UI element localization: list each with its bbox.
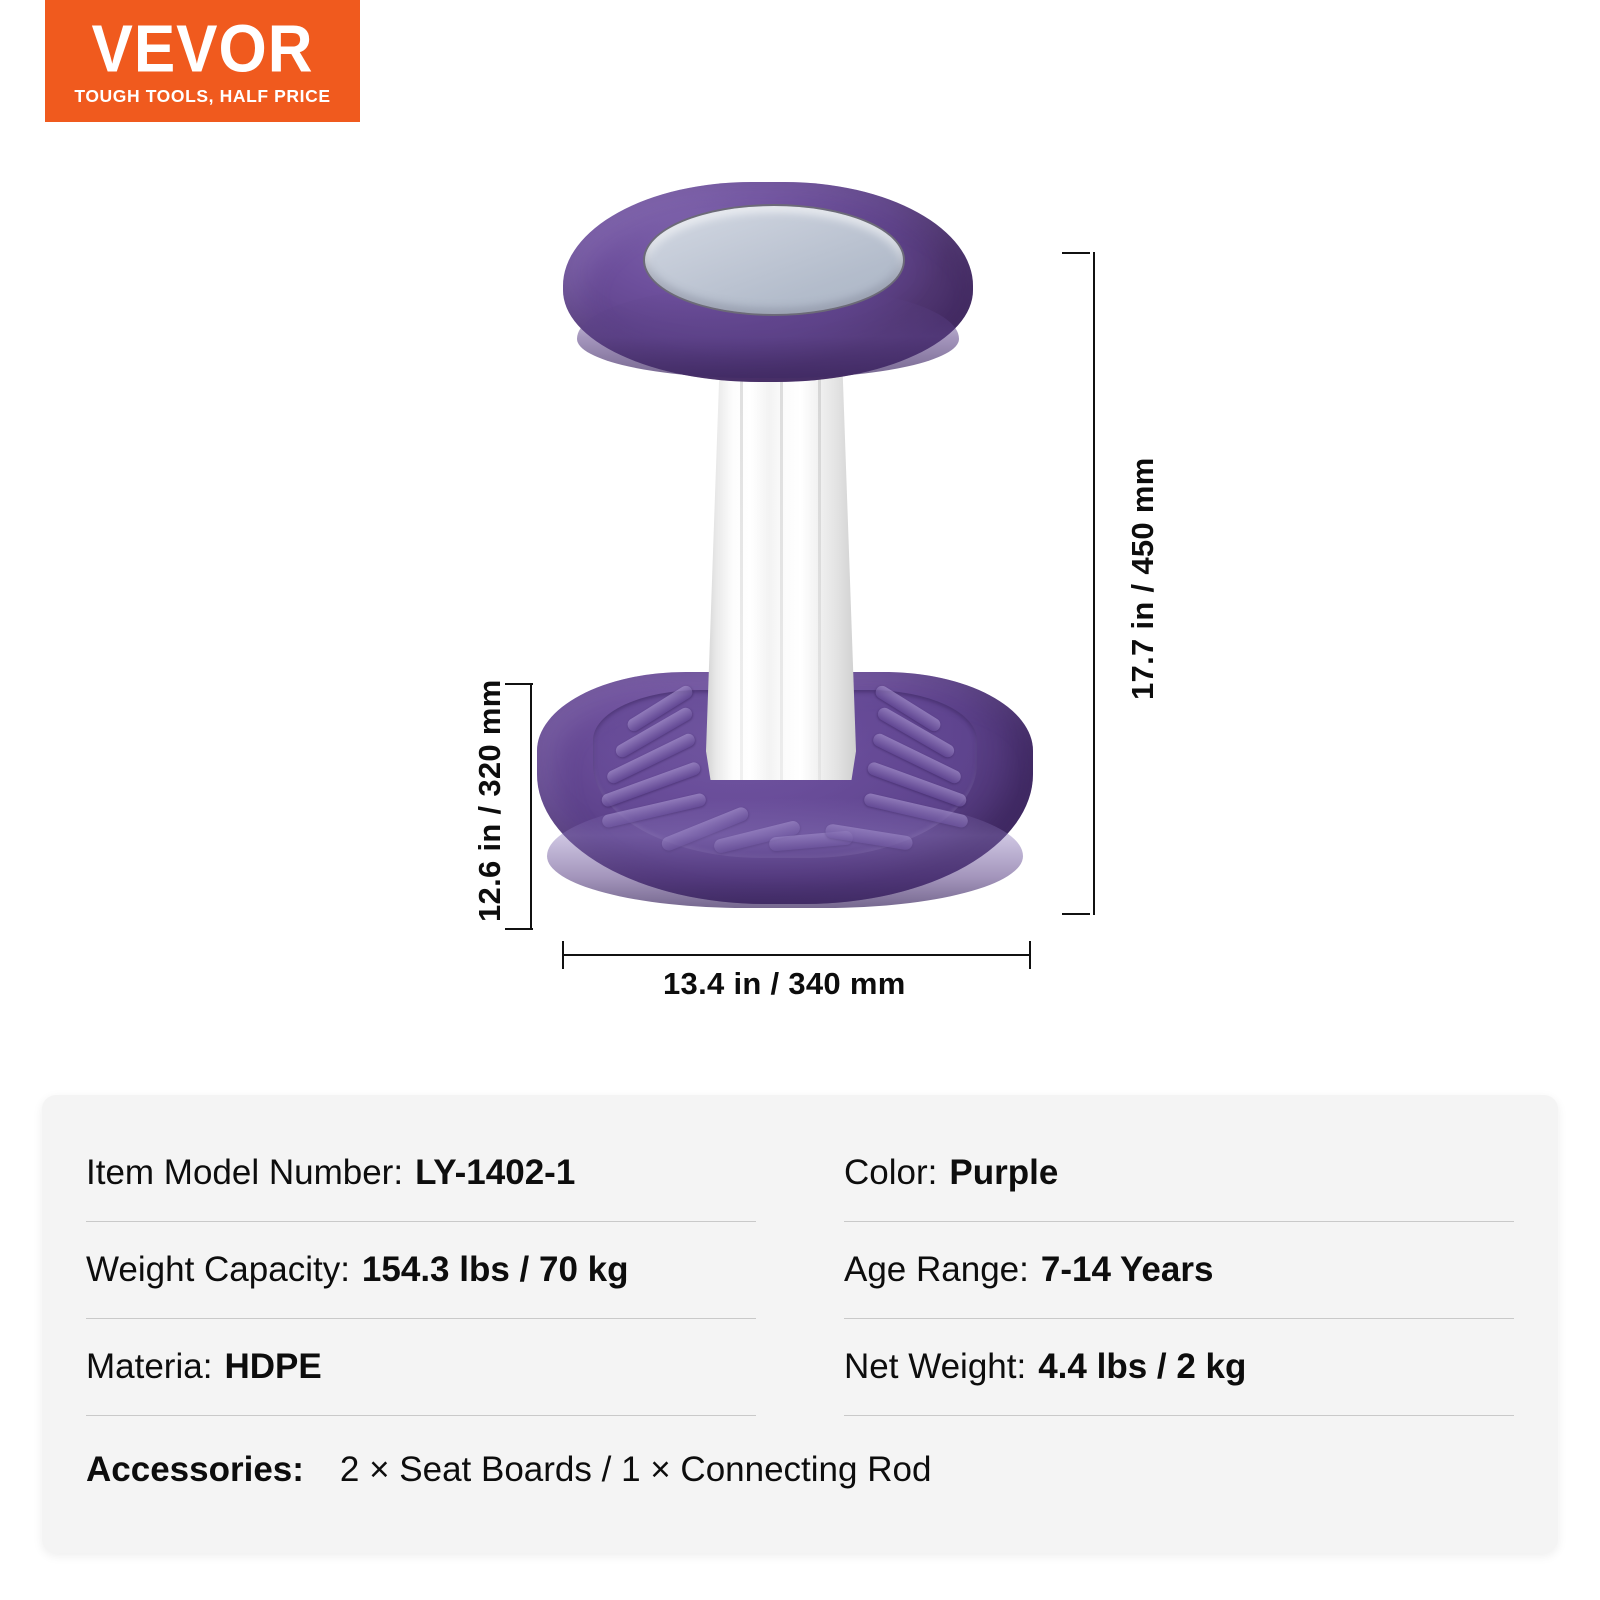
spec-value: 154.3 lbs / 70 kg (362, 1250, 629, 1290)
overall-height-tick-top (1062, 252, 1090, 254)
spec-label: Age Range: (844, 1250, 1029, 1290)
spec-net-weight: Net Weight: 4.4 lbs / 2 kg (844, 1319, 1514, 1416)
spec-age-range: Age Range: 7-14 Years (844, 1222, 1514, 1319)
stool-column (706, 368, 856, 780)
spec-value: 4.4 lbs / 2 kg (1038, 1347, 1246, 1387)
base-height-line (530, 683, 532, 930)
base-skirt (547, 798, 1023, 908)
seat-disc (643, 204, 905, 316)
base-height-label: 12.6 in / 320 mm (472, 679, 508, 922)
spec-label: Weight Capacity: (86, 1250, 350, 1290)
product-illustration: 17.7 in / 450 mm 12.6 in / 320 mm 13.4 i… (0, 0, 1600, 1050)
overall-height-label: 17.7 in / 450 mm (1125, 457, 1161, 700)
spec-label: Color: (844, 1153, 937, 1193)
spec-material: Materia: HDPE (86, 1319, 756, 1416)
spec-value: Purple (949, 1153, 1058, 1193)
spec-value: 2 × Seat Boards / 1 × Connecting Rod (340, 1450, 932, 1490)
overall-height-tick-bottom (1062, 913, 1090, 915)
stool-seat (563, 182, 973, 382)
column-flute (818, 368, 821, 780)
spec-weight-capacity: Weight Capacity: 154.3 lbs / 70 kg (86, 1222, 756, 1319)
spec-label: Materia: (86, 1347, 212, 1387)
base-height-tick-top (505, 683, 533, 685)
base-width-tick-right (1029, 941, 1031, 969)
base-width-line (562, 954, 1030, 956)
spec-color: Color: Purple (844, 1125, 1514, 1222)
base-width-label: 13.4 in / 340 mm (663, 966, 906, 1002)
column-flute (740, 368, 743, 780)
spec-accessories: Accessories: 2 × Seat Boards / 1 × Conne… (86, 1416, 1514, 1524)
spec-item-model-number: Item Model Number: LY-1402-1 (86, 1125, 756, 1222)
spec-value: 7-14 Years (1041, 1250, 1214, 1290)
spec-value: LY-1402-1 (415, 1153, 575, 1193)
spec-label: Net Weight: (844, 1347, 1026, 1387)
column-flute (780, 368, 783, 780)
spec-label: Accessories: (86, 1450, 304, 1490)
specification-panel: Item Model Number: LY-1402-1 Color: Purp… (42, 1095, 1558, 1553)
overall-height-line (1093, 252, 1095, 915)
spec-value: HDPE (224, 1347, 321, 1387)
column-body (706, 368, 856, 780)
spec-label: Item Model Number: (86, 1153, 403, 1193)
base-height-tick-bottom (505, 928, 533, 930)
specification-grid: Item Model Number: LY-1402-1 Color: Purp… (86, 1125, 1514, 1416)
